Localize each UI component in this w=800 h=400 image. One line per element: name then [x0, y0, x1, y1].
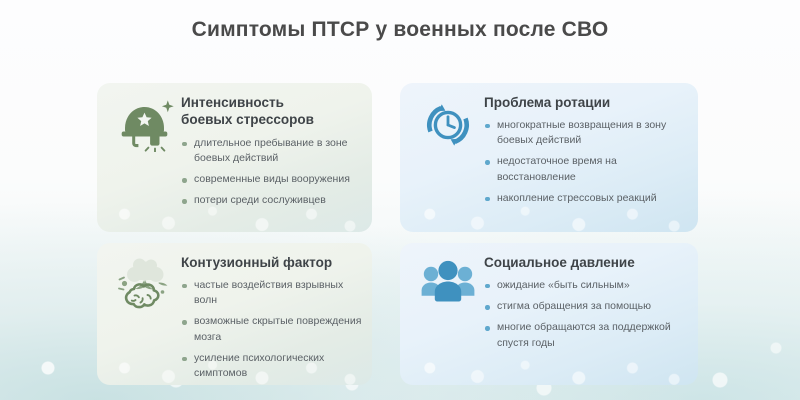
card-rotation-icon-container [412, 94, 484, 224]
clock-rotation-icon [422, 100, 474, 150]
card-rotation-heading: Проблема ротации [484, 95, 688, 112]
list-item: стигма обращения за помощью [484, 299, 688, 314]
card-concussion[interactable]: Контузионный фактор частые воздействия в… [97, 243, 372, 385]
list-item: длительное пребывание в зоне боевых дейс… [181, 136, 362, 166]
people-group-icon [420, 260, 476, 304]
list-item: ожидание «быть сильным» [484, 278, 688, 293]
list-item: многие обращаются за поддержкой спустя г… [484, 320, 688, 350]
card-social-icon-container [412, 254, 484, 377]
card-stressors-bullet-list: длительное пребывание в зоне боевых дейс… [181, 136, 362, 209]
list-item: усиление психологических симптомов [181, 351, 362, 381]
military-helmet-icon [116, 98, 174, 152]
card-social[interactable]: Социальное давление ожидание «быть сильн… [400, 243, 698, 385]
card-social-bullet-list: ожидание «быть сильным» стигма обращения… [484, 278, 688, 351]
brain-blast-icon [115, 258, 175, 310]
card-rotation-bullet-list: многократные возвращения в зону боевых д… [484, 118, 688, 206]
card-stressors[interactable]: Интенсивность боевых стрессоров длительн… [97, 83, 372, 232]
card-stressors-icon-container [109, 94, 181, 224]
card-concussion-icon-container [109, 254, 181, 377]
card-stressors-heading-line1: Интенсивность [181, 95, 284, 110]
card-social-heading: Социальное давление [484, 255, 688, 272]
list-item: частые воздействия взрывных волн [181, 278, 362, 308]
list-item: накопление стрессовых реакций [484, 191, 688, 206]
card-rotation[interactable]: Проблема ротации многократные возвращени… [400, 83, 698, 232]
list-item: возможные скрытые повреждения мозга [181, 314, 362, 344]
card-stressors-heading-line2: боевых стрессоров [181, 112, 314, 127]
card-concussion-heading: Контузионный фактор [181, 255, 362, 272]
list-item: потери среди сослуживцев [181, 193, 362, 208]
page-title: Симптомы ПТСР у военных после СВО [0, 18, 800, 42]
slide-canvas: Симптомы ПТСР у военных после СВО [0, 0, 800, 400]
list-item: многократные возвращения в зону боевых д… [484, 118, 688, 148]
card-stressors-heading: Интенсивность боевых стрессоров [181, 95, 362, 129]
list-item: современные виды вооружения [181, 172, 362, 187]
list-item: недостаточное время на восстановление [484, 154, 688, 184]
card-concussion-bullet-list: частые воздействия взрывных волн возможн… [181, 278, 362, 381]
